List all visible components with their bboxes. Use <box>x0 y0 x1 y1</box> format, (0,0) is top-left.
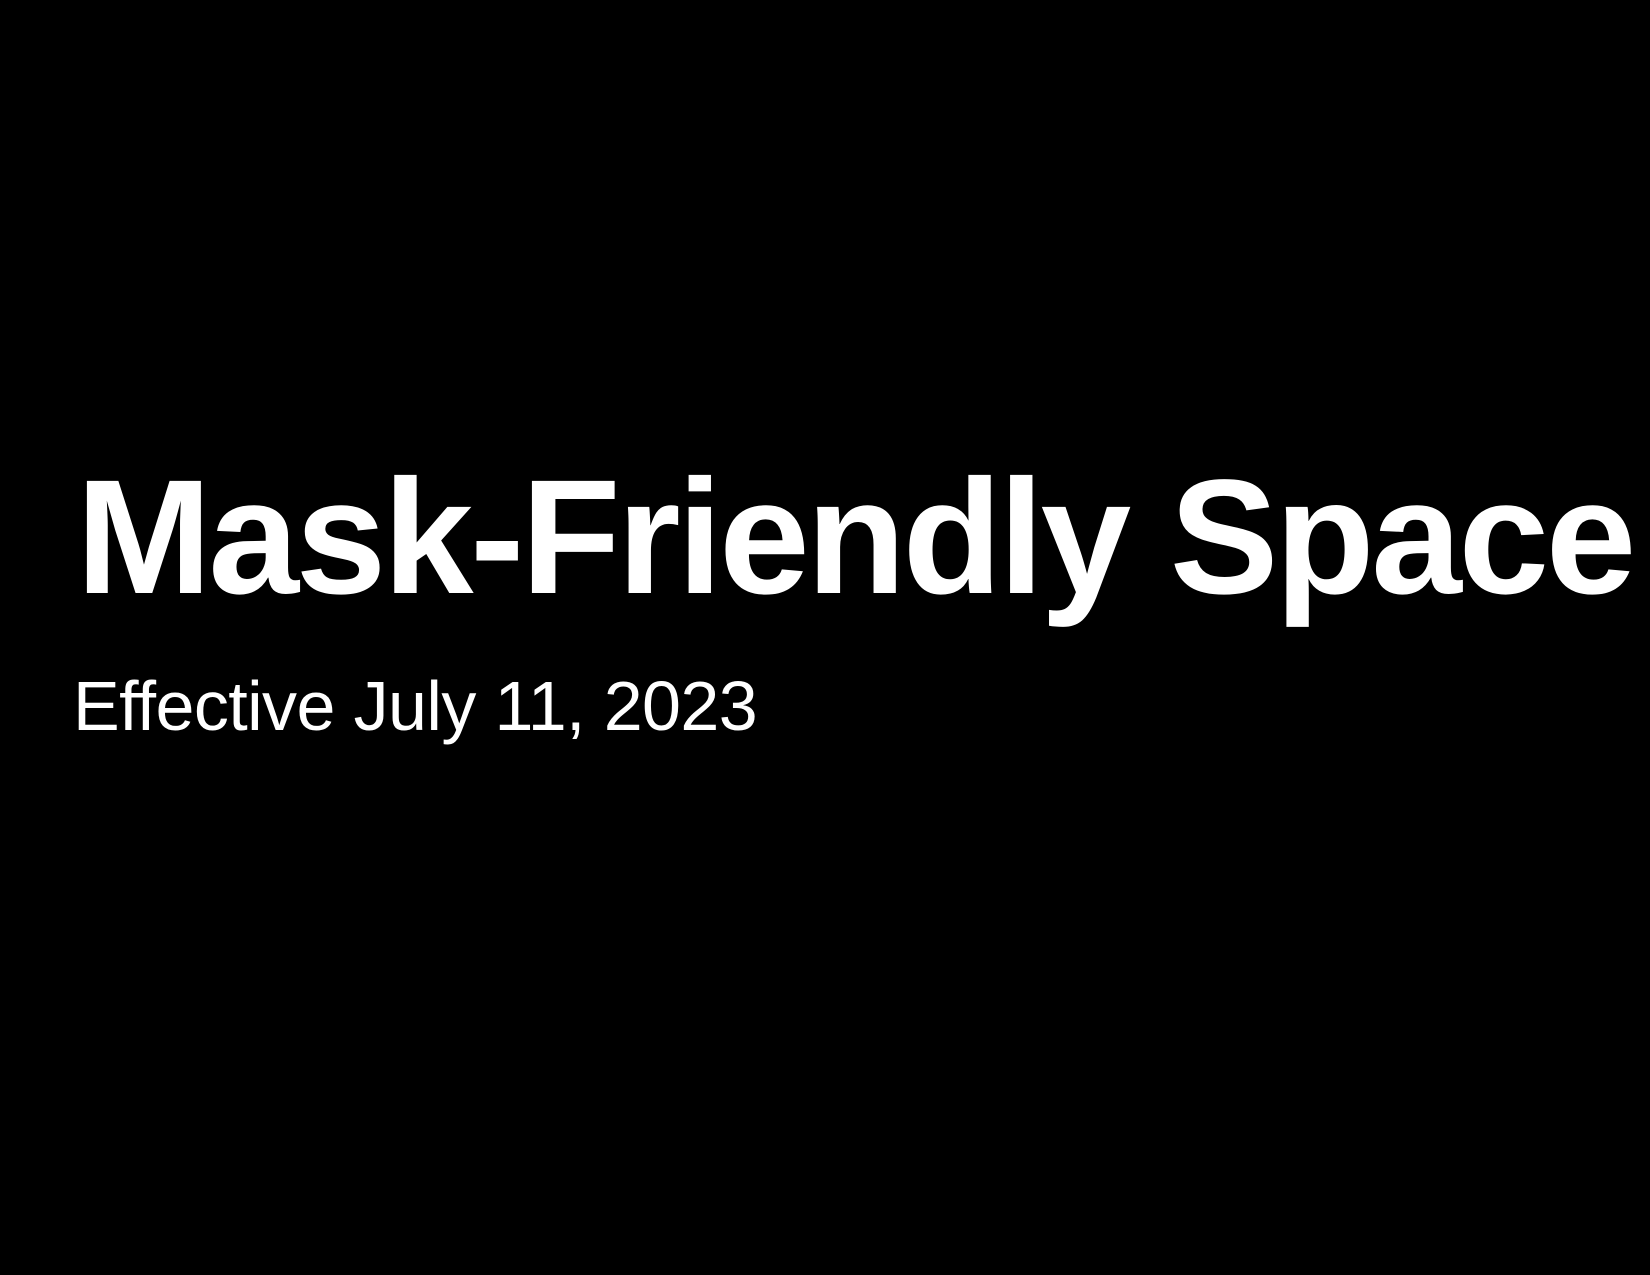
effective-date-subtitle: Effective July 11, 2023 <box>73 671 1596 741</box>
title-slide: Mask-Friendly Space Effective July 11, 2… <box>0 0 1650 1275</box>
slide-text-block: Mask-Friendly Space Effective July 11, 2… <box>76 455 1596 741</box>
page-title: Mask-Friendly Space <box>76 455 1596 618</box>
